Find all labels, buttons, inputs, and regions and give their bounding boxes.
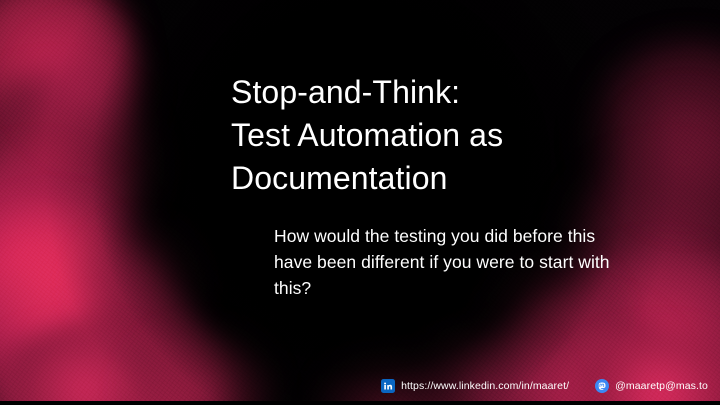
smoke-puff <box>0 195 140 355</box>
bottom-letterbox-bar <box>0 401 720 405</box>
footer-link-mastodon[interactable]: @maaretp@mas.to <box>595 379 708 393</box>
smoke-puff <box>10 20 160 160</box>
slide-title: Stop-and-Think: Test Automation as Docum… <box>231 71 631 200</box>
smoke-puff <box>70 220 210 350</box>
smoke-background <box>0 0 720 405</box>
smoke-puff <box>400 330 570 405</box>
smoke-puff <box>120 330 280 405</box>
footer-link-linkedin[interactable]: https://www.linkedin.com/in/maaret/ <box>381 379 569 393</box>
smoke-puff <box>550 335 720 405</box>
center-vignette <box>0 0 720 405</box>
smoke-puff <box>0 0 140 160</box>
linkedin-url-label: https://www.linkedin.com/in/maaret/ <box>401 380 569 392</box>
mastodon-handle-label: @maaretp@mas.to <box>615 380 708 392</box>
smoke-puff <box>0 150 165 380</box>
presentation-slide: Stop-and-Think: Test Automation as Docum… <box>0 0 720 405</box>
smoke-puff <box>0 70 170 260</box>
footer-contact-bar: https://www.linkedin.com/in/maaret/ @maa… <box>0 379 720 393</box>
linkedin-icon <box>381 379 395 393</box>
smoke-puff <box>0 330 200 405</box>
mastodon-icon <box>595 379 609 393</box>
texture-grain <box>0 0 720 405</box>
slide-body-question: How would the testing you did before thi… <box>274 223 614 301</box>
